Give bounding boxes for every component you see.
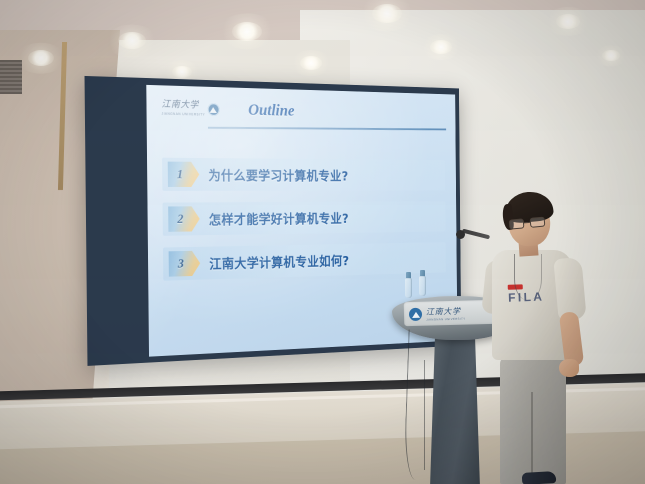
- university-emblem-icon: [208, 103, 220, 116]
- outline-item-number: 1: [177, 167, 183, 183]
- ceiling-downlight: [300, 56, 322, 70]
- ceiling-downlight: [172, 66, 192, 78]
- light-core: [300, 56, 322, 70]
- light-core: [232, 22, 262, 41]
- outline-item-number: 2: [177, 211, 183, 227]
- university-logo-en: JIANGNAN UNIVERSITY: [162, 112, 205, 116]
- outline-item-text: 为什么要学习计算机专业?: [208, 165, 348, 184]
- podium-logo-cn: 江南大学: [426, 305, 466, 317]
- ceiling-downlight: [430, 40, 452, 54]
- ceiling-downlight: [118, 32, 146, 49]
- slide-title: Outline: [248, 100, 294, 120]
- slide-header: 江南大学 JIANGNAN UNIVERSITY Outline: [161, 97, 444, 140]
- podium-logo-en: JIANGNAN UNIVERSITY: [426, 316, 465, 321]
- light-core: [372, 4, 402, 23]
- light-core: [556, 14, 580, 29]
- presenter-legs: [500, 356, 566, 484]
- water-bottle: [405, 272, 412, 298]
- university-logo: 江南大学 JIANGNAN UNIVERSITY: [161, 97, 219, 117]
- outline-item-text: 江南大学计算机专业如何?: [209, 250, 349, 272]
- ceiling-downlight: [556, 14, 580, 29]
- university-emblem-icon: [409, 307, 422, 320]
- presenter-shoe: [522, 471, 557, 484]
- presenter: FILA: [486, 196, 591, 484]
- light-core: [28, 50, 54, 66]
- presenter-right-hand: [559, 359, 579, 377]
- university-logo-cn: 江南大学: [161, 101, 205, 111]
- light-core: [430, 40, 452, 54]
- eyeglass-lens-left: [509, 218, 525, 229]
- presenter-leg-seam: [531, 392, 533, 484]
- microphone-icon: [456, 230, 465, 239]
- ceiling-downlight: [28, 50, 54, 66]
- outline-item: 3江南大学计算机专业如何?: [163, 242, 446, 281]
- lecture-hall-photo: 江南大学 JIANGNAN UNIVERSITY Outline 1为什么要学习…: [0, 0, 645, 484]
- ceiling-downlight: [602, 50, 620, 61]
- ceiling-downlight: [372, 4, 402, 23]
- bottle-body: [405, 278, 412, 298]
- outline-item-badge: 2: [168, 206, 200, 232]
- bottle-body: [419, 276, 426, 296]
- outline-item-list: 1为什么要学习计算机专业?2怎样才能学好计算机专业?3江南大学计算机专业如何?: [162, 158, 446, 281]
- eyeglass-lens-right: [530, 217, 546, 228]
- outline-item-badge: 1: [168, 162, 200, 187]
- water-bottle: [419, 270, 426, 296]
- presenter-lanyard: [514, 254, 542, 300]
- outline-item: 2怎样才能学好计算机专业?: [163, 201, 446, 236]
- outline-item-badge: 3: [169, 251, 201, 277]
- outline-item: 1为什么要学习计算机专业?: [162, 158, 445, 191]
- outline-item-text: 怎样才能学好计算机专业?: [209, 208, 349, 228]
- outline-item-number: 3: [178, 256, 184, 272]
- ceiling-downlight: [232, 22, 262, 41]
